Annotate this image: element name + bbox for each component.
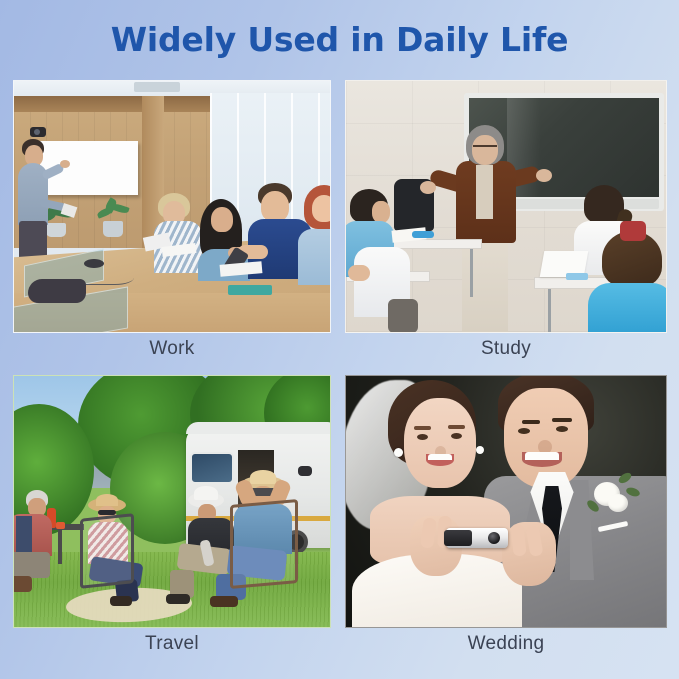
scenario-card-work[interactable]: Work (13, 80, 331, 333)
scenario-card-travel[interactable]: Travel (13, 375, 331, 628)
pen (412, 231, 434, 238)
voice-recorder-device (446, 528, 508, 548)
conference-phone (28, 279, 86, 303)
caravan-window (190, 452, 234, 484)
wedding-photo (345, 375, 667, 628)
attendee-blonde (154, 193, 204, 271)
backpack (620, 221, 646, 241)
student-front-right (596, 231, 667, 333)
page-title: Widely Used in Daily Life (0, 20, 679, 59)
pencil-case (566, 273, 588, 280)
boutonniere (586, 472, 636, 524)
bride-face (404, 398, 476, 488)
attendee-red-hair (302, 185, 331, 295)
ceiling-vent-icon (134, 82, 180, 92)
travel-photo (13, 375, 331, 628)
senior-man-left (13, 490, 58, 590)
wood-beam (14, 96, 210, 112)
caption-study: Study (345, 338, 667, 360)
groom-teeth (525, 452, 559, 460)
caption-wedding: Wedding (345, 633, 667, 655)
promo-banner: Widely Used in Daily Life (0, 0, 679, 679)
cable (86, 267, 134, 285)
potted-plant (98, 201, 128, 237)
device-lens-icon (488, 532, 500, 544)
scenario-card-wedding[interactable]: Wedding (345, 375, 667, 628)
folding-chair (230, 499, 298, 589)
backpack (388, 299, 418, 333)
caption-work: Work (13, 338, 331, 360)
folding-chair (80, 513, 134, 589)
scenario-card-study[interactable]: Study (345, 80, 667, 333)
presenter (16, 139, 50, 249)
notebook (228, 285, 272, 295)
teacher (446, 125, 526, 330)
video-camera-icon (30, 127, 46, 137)
bride-earring (394, 448, 403, 457)
bride-teeth (428, 454, 452, 460)
work-photo (13, 80, 331, 333)
bride-earring (476, 446, 484, 454)
scenario-grid: Work (13, 80, 667, 665)
study-photo (345, 80, 667, 333)
caption-travel: Travel (13, 633, 331, 655)
